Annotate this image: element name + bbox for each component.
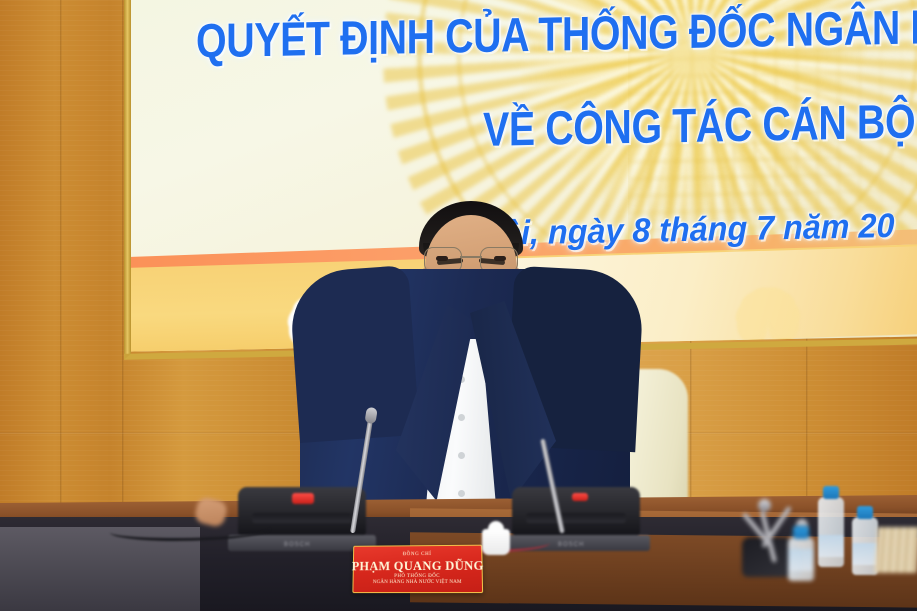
shirt-button [458, 452, 465, 459]
shoulder-left [288, 265, 420, 443]
water-bottle [788, 537, 814, 581]
bottle-cap [823, 486, 839, 499]
bottle-cap [857, 506, 873, 519]
microphone-head [758, 499, 771, 512]
mic-talk-button[interactable] [572, 493, 588, 501]
nameplate-line-title: ĐỒNG CHÍ [403, 552, 432, 558]
photo-scene: QUYẾT ĐỊNH CỦA THỐNG ĐỐC NGÂN H VỀ CÔNG … [0, 0, 917, 611]
nameplate-line-organization: NGÂN HÀNG NHÀ NƯỚC VIỆT NAM [373, 580, 462, 586]
water-bottle [818, 497, 844, 567]
mic-unit-body: BOSCH [512, 487, 640, 535]
document-stack [874, 527, 917, 573]
speaker-nameplate: ĐỒNG CHÍ PHẠM QUANG DŨNG PHÓ THỐNG ĐỐC N… [352, 545, 483, 593]
shirt-button [458, 414, 465, 421]
paper-cup [482, 529, 510, 555]
bottle-cap [793, 526, 809, 539]
eye-right [494, 256, 506, 261]
mic-brand-label: BOSCH [284, 542, 310, 548]
eye-left [436, 256, 448, 261]
bottle-label [788, 549, 814, 571]
glasses-bridge [460, 256, 482, 258]
banner-headline-line1: QUYẾT ĐỊNH CỦA THỐNG ĐỐC NGÂN H [196, 0, 917, 69]
bottle-label [818, 535, 844, 557]
nameplate-line-name: PHẠM QUANG DŨNG [352, 559, 484, 574]
mic-brand-label: BOSCH [558, 542, 584, 548]
mic-talk-button[interactable] [292, 493, 314, 504]
bottle-label [852, 543, 878, 565]
